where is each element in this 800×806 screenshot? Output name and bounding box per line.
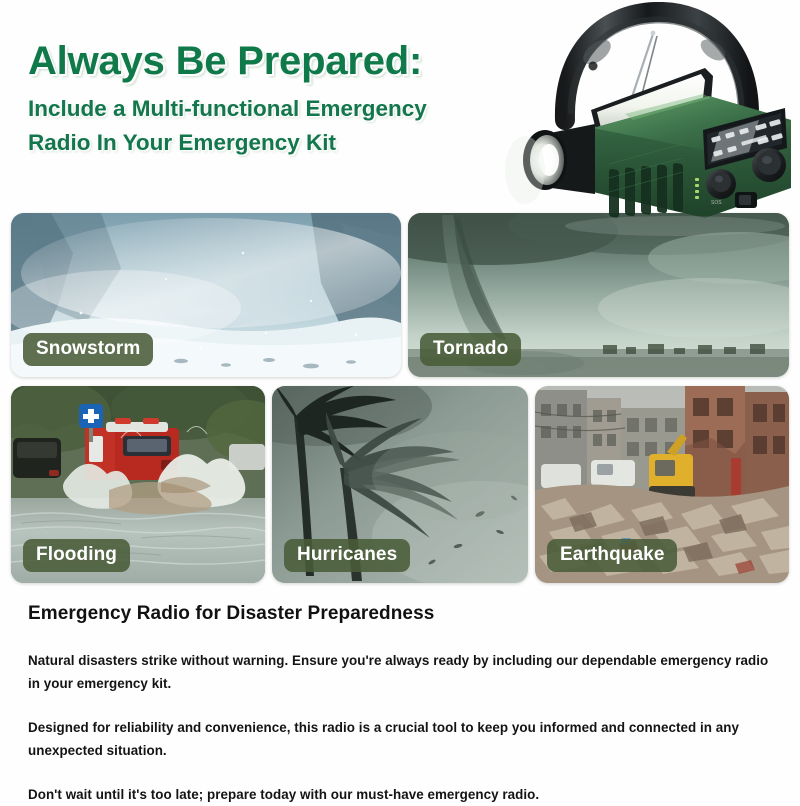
disaster-card-earthquake[interactable]: Earthquake: [535, 386, 789, 583]
headline-block: Always Be Prepared: Include a Multi-func…: [28, 40, 548, 160]
disaster-card-flooding[interactable]: Flooding: [11, 386, 265, 583]
body-paragraph-2: Designed for reliability and convenience…: [28, 716, 776, 762]
card-label-flooding: Flooding: [23, 539, 130, 572]
page-title: Always Be Prepared:: [28, 40, 548, 82]
body-text-section: Emergency Radio for Disaster Preparednes…: [28, 603, 776, 806]
page-subtitle-line-2: Radio In Your Emergency Kit: [28, 126, 548, 160]
card-label-hurricanes: Hurricanes: [284, 539, 410, 572]
page-subtitle: Include a Multi-functional Emergency Rad…: [28, 92, 548, 160]
body-paragraph-3: Don't wait until it's too late; prepare …: [28, 783, 776, 806]
disaster-card-snowstorm[interactable]: Snowstorm: [11, 213, 401, 377]
page-subtitle-line-1: Include a Multi-functional Emergency: [28, 92, 548, 126]
emergency-radio-illustration: SOS: [505, 2, 800, 242]
body-heading: Emergency Radio for Disaster Preparednes…: [28, 603, 776, 625]
svg-text:SOS: SOS: [711, 200, 722, 206]
disaster-card-hurricanes[interactable]: Hurricanes: [272, 386, 528, 583]
card-label-tornado: Tornado: [420, 333, 521, 366]
body-paragraph-1: Natural disasters strike without warning…: [28, 649, 776, 695]
card-label-earthquake: Earthquake: [547, 539, 677, 572]
product-image-emergency-radio: SOS: [505, 2, 800, 242]
card-label-snowstorm: Snowstorm: [23, 333, 153, 366]
